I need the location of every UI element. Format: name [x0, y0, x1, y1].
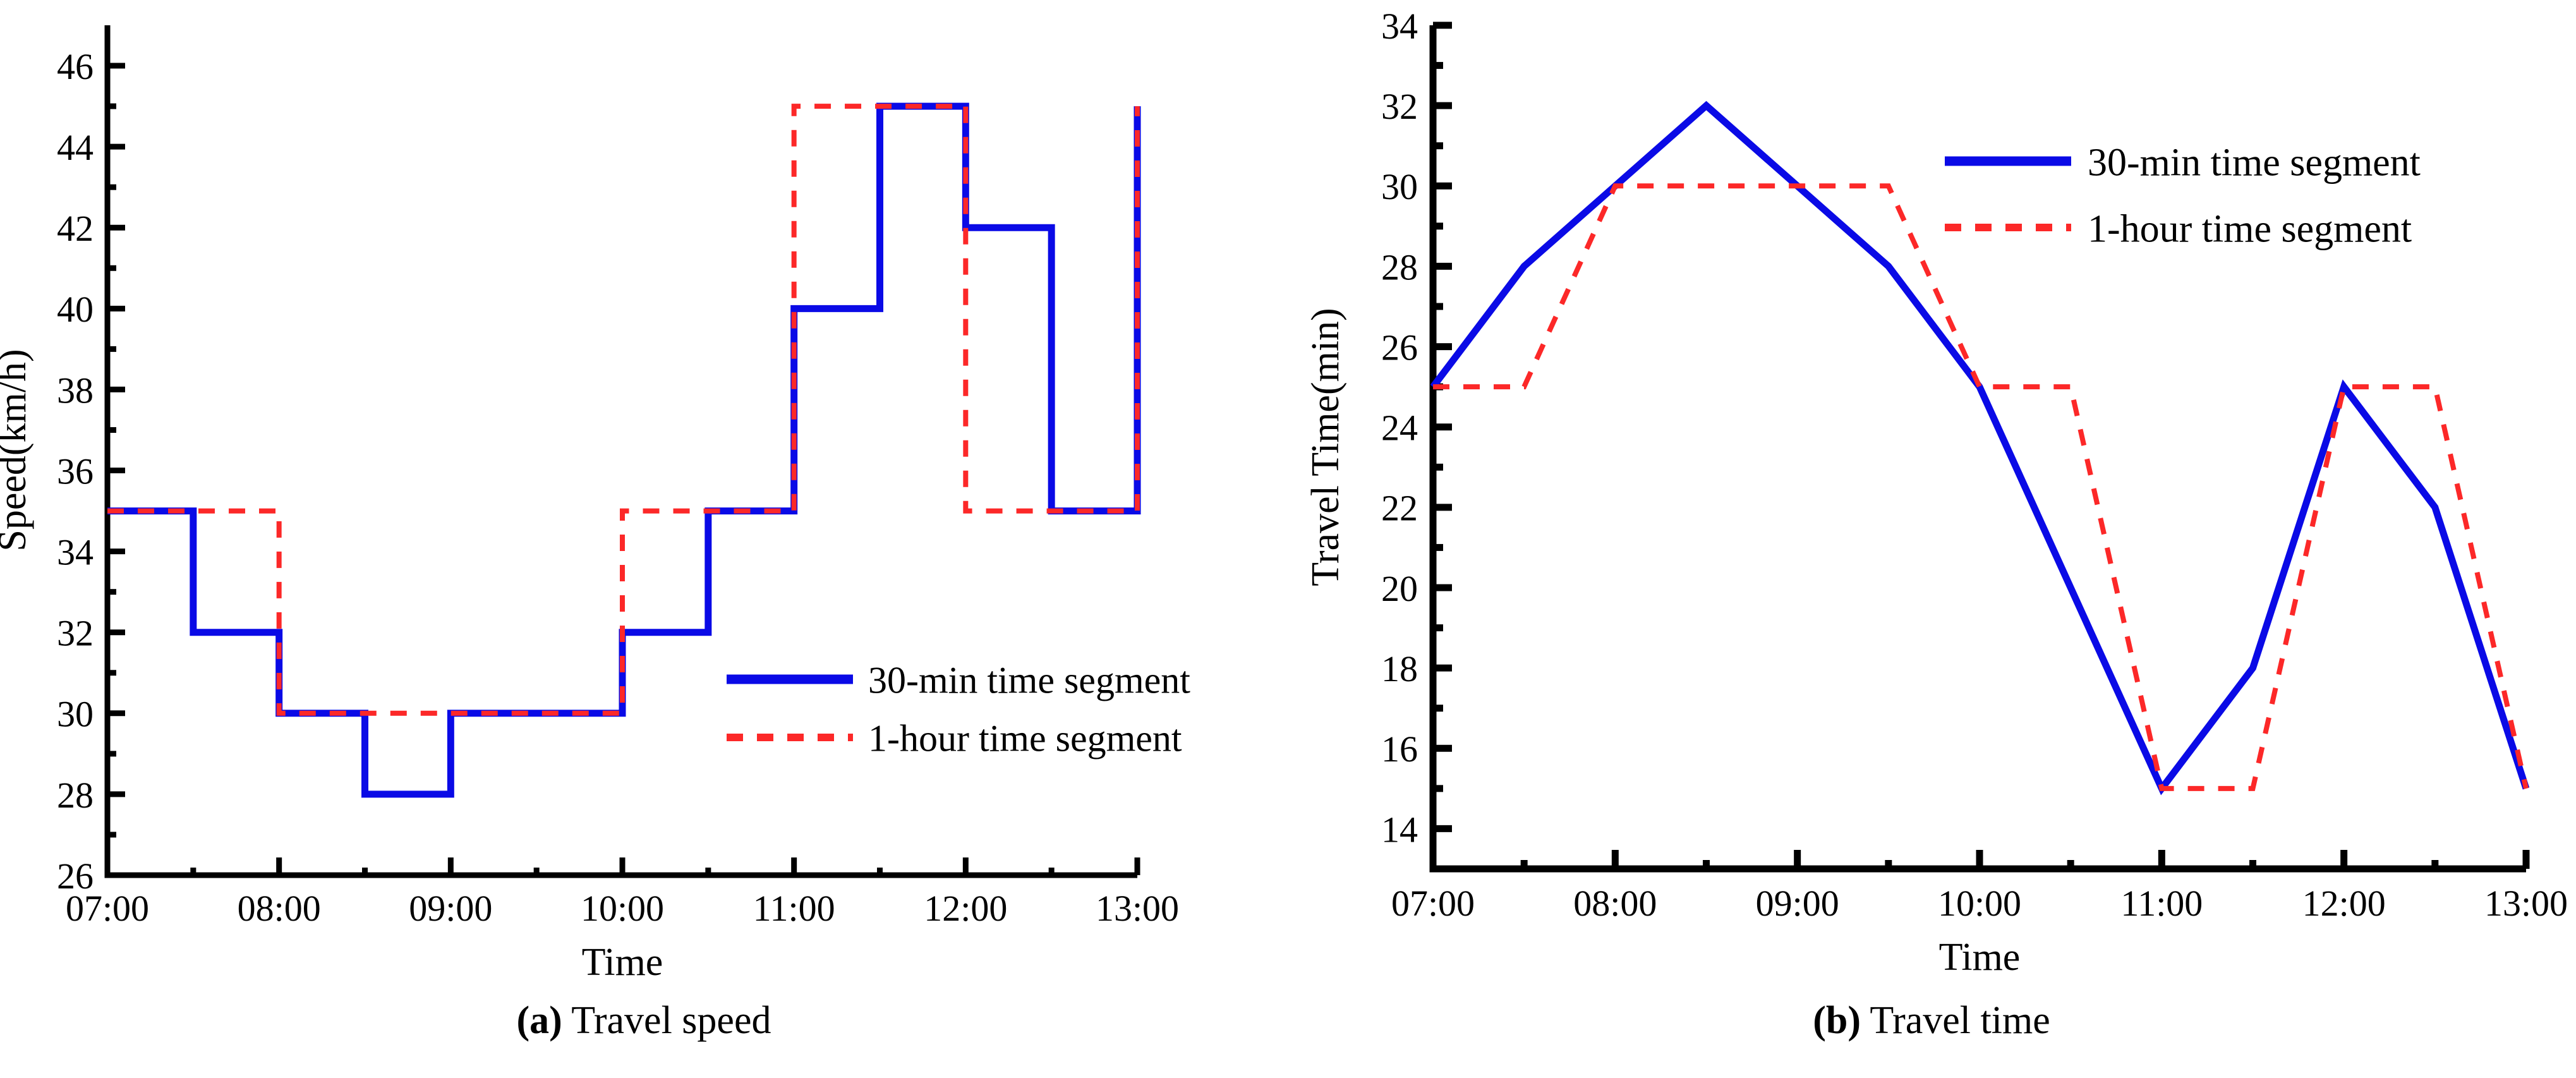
y-axis-title: Travel Time(min): [1304, 308, 1347, 586]
series-line-1hour: [107, 106, 1137, 713]
x-tick-label: 10:00: [581, 888, 664, 929]
y-tick-label: 32: [57, 613, 94, 654]
y-tick-label: 34: [1381, 6, 1418, 47]
travel-time-line-chart: 141618202224262830323407:0008:0009:0010:…: [1288, 0, 2576, 998]
y-tick-label: 36: [57, 451, 94, 492]
y-tick-label: 22: [1381, 488, 1418, 529]
y-tick-label: 42: [57, 208, 94, 249]
caption-a-label: (a): [517, 999, 562, 1042]
y-tick-label: 30: [57, 694, 94, 735]
caption-b-label: (b): [1813, 999, 1861, 1042]
caption-a: (a) Travel speed: [0, 998, 1288, 1043]
x-tick-label: 09:00: [409, 888, 492, 929]
y-tick-label: 38: [57, 370, 94, 411]
x-tick-label: 07:00: [1391, 883, 1475, 924]
caption-b-text: Travel time: [1861, 999, 2050, 1042]
y-tick-label: 44: [57, 127, 94, 168]
x-tick-label: 12:00: [2302, 883, 2386, 924]
x-tick-label: 08:00: [238, 888, 321, 929]
y-tick-label: 40: [57, 289, 94, 330]
y-tick-label: 24: [1381, 408, 1418, 449]
x-tick-label: 09:00: [1756, 883, 1839, 924]
x-tick-label: 08:00: [1573, 883, 1657, 924]
legend-label-1hour: 1-hour time segment: [868, 718, 1182, 760]
x-tick-label: 11:00: [753, 888, 835, 929]
y-tick-label: 28: [57, 775, 94, 816]
x-axis-title: Time: [582, 941, 663, 984]
x-tick-label: 11:00: [2120, 883, 2203, 924]
legend-label-30min: 30-min time segment: [868, 660, 1190, 701]
panel-a-travel-speed: 262830323436384042444607:0008:0009:0010:…: [0, 0, 1288, 1078]
y-tick-label: 14: [1381, 809, 1418, 850]
y-tick-label: 20: [1381, 568, 1418, 609]
x-axis-title: Time: [1939, 936, 2021, 979]
x-tick-label: 13:00: [2484, 883, 2568, 924]
caption-b: (b) Travel time: [1288, 998, 2575, 1043]
figure-two-panel-travel-charts: 262830323436384042444607:0008:0009:0010:…: [0, 0, 2576, 1078]
y-tick-label: 18: [1381, 648, 1418, 689]
legend: 30-min time segment1-hour time segment: [727, 660, 1190, 760]
legend-label-1hour: 1-hour time segment: [2088, 207, 2412, 250]
series-line-1hour: [1433, 186, 2526, 789]
y-tick-label: 46: [57, 46, 94, 87]
panel-b-travel-time: 141618202224262830323407:0008:0009:0010:…: [1288, 0, 2575, 1078]
y-axis-title: Speed(km/h): [0, 349, 34, 551]
caption-a-text: Travel speed: [562, 999, 771, 1042]
travel-speed-step-chart: 262830323436384042444607:0008:0009:0010:…: [0, 0, 1288, 998]
x-tick-label: 10:00: [1938, 883, 2021, 924]
y-tick-label: 28: [1381, 246, 1418, 288]
y-tick-label: 30: [1381, 166, 1418, 207]
y-tick-label: 32: [1381, 86, 1418, 127]
y-tick-label: 26: [1381, 327, 1418, 368]
legend: 30-min time segment1-hour time segment: [1945, 141, 2421, 250]
chart-a-plot-area: 262830323436384042444607:0008:0009:0010:…: [0, 0, 1288, 998]
y-tick-label: 34: [57, 531, 94, 572]
x-tick-label: 07:00: [66, 888, 149, 929]
chart-b-plot-area: 141618202224262830323407:0008:0009:0010:…: [1288, 0, 2576, 998]
legend-label-30min: 30-min time segment: [2088, 141, 2421, 184]
x-tick-label: 12:00: [924, 888, 1007, 929]
y-tick-label: 16: [1381, 729, 1418, 770]
x-tick-label: 13:00: [1096, 888, 1179, 929]
